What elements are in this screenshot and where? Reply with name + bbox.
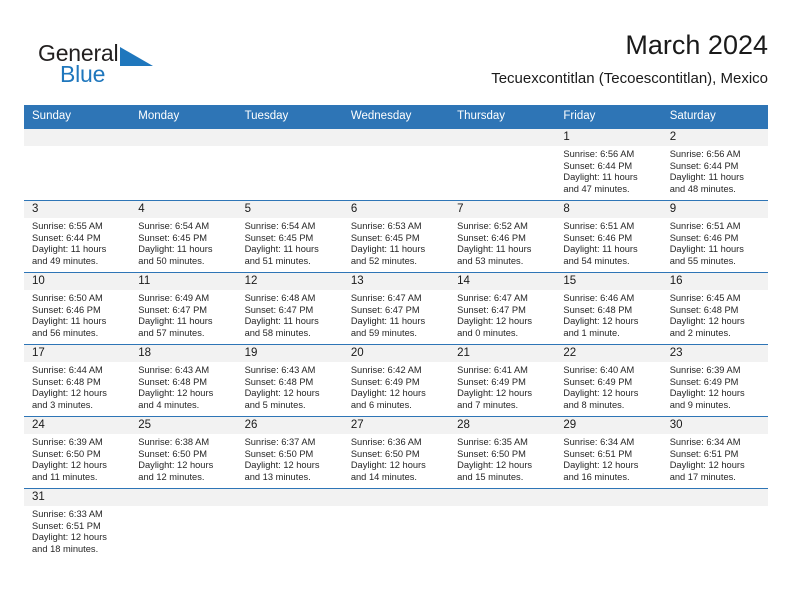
sunset-time: Sunset: 6:49 PM: [351, 377, 445, 389]
day-number: 20: [343, 345, 449, 362]
day-details: Sunrise: 6:50 AMSunset: 6:46 PMDaylight:…: [24, 290, 130, 339]
daylight-duration-line2: and 13 minutes.: [245, 472, 339, 484]
weekday-header-tuesday: Tuesday: [237, 105, 343, 129]
daylight-duration-line2: and 47 minutes.: [563, 184, 657, 196]
calendar-day-cell[interactable]: 3Sunrise: 6:55 AMSunset: 6:44 PMDaylight…: [24, 201, 130, 273]
day-number: 31: [24, 489, 130, 506]
calendar-day-cell[interactable]: 2Sunrise: 6:56 AMSunset: 6:44 PMDaylight…: [662, 129, 768, 201]
sunrise-time: Sunrise: 6:46 AM: [563, 293, 657, 305]
daylight-duration-line2: and 54 minutes.: [563, 256, 657, 268]
day-details: Sunrise: 6:53 AMSunset: 6:45 PMDaylight:…: [343, 218, 449, 267]
daylight-duration-line2: and 0 minutes.: [457, 328, 551, 340]
sunset-time: Sunset: 6:46 PM: [32, 305, 126, 317]
calendar-day-cell[interactable]: 14Sunrise: 6:47 AMSunset: 6:47 PMDayligh…: [449, 273, 555, 345]
sunrise-time: Sunrise: 6:37 AM: [245, 437, 339, 449]
day-details: Sunrise: 6:48 AMSunset: 6:47 PMDaylight:…: [237, 290, 343, 339]
sunset-time: Sunset: 6:51 PM: [32, 521, 126, 533]
daylight-duration-line2: and 7 minutes.: [457, 400, 551, 412]
day-details: Sunrise: 6:51 AMSunset: 6:46 PMDaylight:…: [662, 218, 768, 267]
day-details: Sunrise: 6:43 AMSunset: 6:48 PMDaylight:…: [130, 362, 236, 411]
daylight-duration-line1: Daylight: 12 hours: [457, 316, 551, 328]
calendar-body: 1Sunrise: 6:56 AMSunset: 6:44 PMDaylight…: [24, 129, 768, 561]
day-details: Sunrise: 6:41 AMSunset: 6:49 PMDaylight:…: [449, 362, 555, 411]
daylight-duration-line1: Daylight: 11 hours: [245, 316, 339, 328]
daylight-duration-line2: and 3 minutes.: [32, 400, 126, 412]
sunset-time: Sunset: 6:50 PM: [138, 449, 232, 461]
day-details: Sunrise: 6:51 AMSunset: 6:46 PMDaylight:…: [555, 218, 661, 267]
day-details: Sunrise: 6:39 AMSunset: 6:49 PMDaylight:…: [662, 362, 768, 411]
day-number: [237, 489, 343, 506]
sunset-time: Sunset: 6:47 PM: [351, 305, 445, 317]
calendar-day-cell[interactable]: 29Sunrise: 6:34 AMSunset: 6:51 PMDayligh…: [555, 417, 661, 489]
calendar-day-cell[interactable]: 26Sunrise: 6:37 AMSunset: 6:50 PMDayligh…: [237, 417, 343, 489]
calendar-cell-empty: [449, 489, 555, 561]
sunset-time: Sunset: 6:49 PM: [457, 377, 551, 389]
daylight-duration-line2: and 57 minutes.: [138, 328, 232, 340]
calendar-day-cell[interactable]: 28Sunrise: 6:35 AMSunset: 6:50 PMDayligh…: [449, 417, 555, 489]
sunrise-time: Sunrise: 6:51 AM: [670, 221, 764, 233]
sunset-time: Sunset: 6:45 PM: [351, 233, 445, 245]
sunrise-time: Sunrise: 6:43 AM: [245, 365, 339, 377]
day-number: 26: [237, 417, 343, 434]
sunrise-time: Sunrise: 6:43 AM: [138, 365, 232, 377]
calendar-day-cell[interactable]: 17Sunrise: 6:44 AMSunset: 6:48 PMDayligh…: [24, 345, 130, 417]
location-subtitle: Tecuexcontitlan (Tecoescontitlan), Mexic…: [491, 68, 768, 90]
day-details: Sunrise: 6:44 AMSunset: 6:48 PMDaylight:…: [24, 362, 130, 411]
daylight-duration-line2: and 2 minutes.: [670, 328, 764, 340]
sunset-time: Sunset: 6:44 PM: [670, 161, 764, 173]
day-number: 29: [555, 417, 661, 434]
daylight-duration-line1: Daylight: 11 hours: [138, 244, 232, 256]
sunrise-time: Sunrise: 6:56 AM: [670, 149, 764, 161]
daylight-duration-line1: Daylight: 12 hours: [32, 532, 126, 544]
daylight-duration-line2: and 4 minutes.: [138, 400, 232, 412]
calendar-day-cell[interactable]: 30Sunrise: 6:34 AMSunset: 6:51 PMDayligh…: [662, 417, 768, 489]
daylight-duration-line1: Daylight: 12 hours: [351, 460, 445, 472]
daylight-duration-line1: Daylight: 12 hours: [670, 388, 764, 400]
calendar-day-cell[interactable]: 20Sunrise: 6:42 AMSunset: 6:49 PMDayligh…: [343, 345, 449, 417]
day-number: [662, 489, 768, 506]
daylight-duration-line1: Daylight: 12 hours: [670, 460, 764, 472]
daylight-duration-line1: Daylight: 12 hours: [457, 388, 551, 400]
day-number: 21: [449, 345, 555, 362]
logo-text-blue: Blue: [60, 61, 105, 87]
sunset-time: Sunset: 6:46 PM: [457, 233, 551, 245]
day-number: 8: [555, 201, 661, 218]
sunset-time: Sunset: 6:44 PM: [563, 161, 657, 173]
day-details: Sunrise: 6:33 AMSunset: 6:51 PMDaylight:…: [24, 506, 130, 555]
day-number: [24, 129, 130, 146]
calendar-day-cell[interactable]: 6Sunrise: 6:53 AMSunset: 6:45 PMDaylight…: [343, 201, 449, 273]
sunrise-time: Sunrise: 6:39 AM: [670, 365, 764, 377]
day-details: Sunrise: 6:46 AMSunset: 6:48 PMDaylight:…: [555, 290, 661, 339]
daylight-duration-line2: and 49 minutes.: [32, 256, 126, 268]
sunrise-time: Sunrise: 6:34 AM: [563, 437, 657, 449]
sunrise-time: Sunrise: 6:39 AM: [32, 437, 126, 449]
calendar-day-cell[interactable]: 11Sunrise: 6:49 AMSunset: 6:47 PMDayligh…: [130, 273, 236, 345]
calendar-cell-empty: [343, 129, 449, 201]
day-details: Sunrise: 6:56 AMSunset: 6:44 PMDaylight:…: [555, 146, 661, 195]
day-details: Sunrise: 6:45 AMSunset: 6:48 PMDaylight:…: [662, 290, 768, 339]
general-blue-logo[interactable]: General Blue: [38, 40, 168, 92]
calendar-cell-empty: [130, 129, 236, 201]
daylight-duration-line1: Daylight: 12 hours: [138, 460, 232, 472]
day-number: [237, 129, 343, 146]
daylight-duration-line2: and 16 minutes.: [563, 472, 657, 484]
daylight-duration-line2: and 15 minutes.: [457, 472, 551, 484]
day-number: [449, 129, 555, 146]
calendar-week-row: 1Sunrise: 6:56 AMSunset: 6:44 PMDaylight…: [24, 129, 768, 201]
sunrise-time: Sunrise: 6:36 AM: [351, 437, 445, 449]
daylight-duration-line2: and 51 minutes.: [245, 256, 339, 268]
sunrise-time: Sunrise: 6:52 AM: [457, 221, 551, 233]
day-number: 25: [130, 417, 236, 434]
sunrise-time: Sunrise: 6:38 AM: [138, 437, 232, 449]
calendar-day-cell[interactable]: 12Sunrise: 6:48 AMSunset: 6:47 PMDayligh…: [237, 273, 343, 345]
calendar-cell-empty: [130, 489, 236, 561]
calendar-day-cell[interactable]: 27Sunrise: 6:36 AMSunset: 6:50 PMDayligh…: [343, 417, 449, 489]
daylight-duration-line2: and 5 minutes.: [245, 400, 339, 412]
day-number: 19: [237, 345, 343, 362]
page-title: March 2024: [491, 28, 768, 62]
calendar-week-row: 3Sunrise: 6:55 AMSunset: 6:44 PMDaylight…: [24, 201, 768, 273]
day-number: 6: [343, 201, 449, 218]
day-details: Sunrise: 6:47 AMSunset: 6:47 PMDaylight:…: [449, 290, 555, 339]
sunset-time: Sunset: 6:48 PM: [245, 377, 339, 389]
weekday-header-sunday: Sunday: [24, 105, 130, 129]
day-number: 13: [343, 273, 449, 290]
day-number: 27: [343, 417, 449, 434]
calendar-day-cell[interactable]: 22Sunrise: 6:40 AMSunset: 6:49 PMDayligh…: [555, 345, 661, 417]
sunset-time: Sunset: 6:51 PM: [563, 449, 657, 461]
sunset-time: Sunset: 6:51 PM: [670, 449, 764, 461]
day-number: 17: [24, 345, 130, 362]
daylight-duration-line1: Daylight: 11 hours: [563, 172, 657, 184]
daylight-duration-line2: and 18 minutes.: [32, 544, 126, 556]
sunset-time: Sunset: 6:45 PM: [138, 233, 232, 245]
calendar-week-row: 31Sunrise: 6:33 AMSunset: 6:51 PMDayligh…: [24, 489, 768, 561]
day-number: 1: [555, 129, 661, 146]
day-number: [343, 129, 449, 146]
sunrise-time: Sunrise: 6:53 AM: [351, 221, 445, 233]
daylight-duration-line1: Daylight: 11 hours: [245, 244, 339, 256]
day-number: 10: [24, 273, 130, 290]
day-details: Sunrise: 6:52 AMSunset: 6:46 PMDaylight:…: [449, 218, 555, 267]
calendar-day-cell[interactable]: 18Sunrise: 6:43 AMSunset: 6:48 PMDayligh…: [130, 345, 236, 417]
day-number: [130, 489, 236, 506]
daylight-duration-line1: Daylight: 12 hours: [138, 388, 232, 400]
sunrise-time: Sunrise: 6:45 AM: [670, 293, 764, 305]
day-details: Sunrise: 6:37 AMSunset: 6:50 PMDaylight:…: [237, 434, 343, 483]
calendar-page: General Blue March 2024 Tecuexcontitlan …: [0, 0, 792, 612]
daylight-duration-line1: Daylight: 11 hours: [351, 244, 445, 256]
daylight-duration-line2: and 59 minutes.: [351, 328, 445, 340]
daylight-duration-line2: and 1 minute.: [563, 328, 657, 340]
sunset-time: Sunset: 6:48 PM: [138, 377, 232, 389]
calendar-cell-empty: [662, 489, 768, 561]
calendar-cell-empty: [449, 129, 555, 201]
daylight-duration-line1: Daylight: 11 hours: [32, 316, 126, 328]
daylight-duration-line1: Daylight: 11 hours: [32, 244, 126, 256]
day-details: Sunrise: 6:55 AMSunset: 6:44 PMDaylight:…: [24, 218, 130, 267]
sunrise-time: Sunrise: 6:40 AM: [563, 365, 657, 377]
day-details: Sunrise: 6:34 AMSunset: 6:51 PMDaylight:…: [662, 434, 768, 483]
sunset-time: Sunset: 6:45 PM: [245, 233, 339, 245]
triangle-logo-icon: [120, 47, 153, 66]
day-details: Sunrise: 6:47 AMSunset: 6:47 PMDaylight:…: [343, 290, 449, 339]
calendar-day-cell[interactable]: 15Sunrise: 6:46 AMSunset: 6:48 PMDayligh…: [555, 273, 661, 345]
daylight-duration-line1: Daylight: 11 hours: [351, 316, 445, 328]
sunrise-time: Sunrise: 6:35 AM: [457, 437, 551, 449]
day-number: 23: [662, 345, 768, 362]
sunrise-time: Sunrise: 6:47 AM: [457, 293, 551, 305]
daylight-duration-line1: Daylight: 12 hours: [670, 316, 764, 328]
daylight-duration-line1: Daylight: 12 hours: [245, 460, 339, 472]
daylight-duration-line1: Daylight: 11 hours: [138, 316, 232, 328]
daylight-duration-line1: Daylight: 12 hours: [563, 316, 657, 328]
calendar-cell-empty: [237, 489, 343, 561]
day-details: Sunrise: 6:42 AMSunset: 6:49 PMDaylight:…: [343, 362, 449, 411]
daylight-duration-line1: Daylight: 12 hours: [32, 388, 126, 400]
sunset-time: Sunset: 6:47 PM: [245, 305, 339, 317]
weekday-header-saturday: Saturday: [662, 105, 768, 129]
sunrise-time: Sunrise: 6:44 AM: [32, 365, 126, 377]
sunset-time: Sunset: 6:48 PM: [32, 377, 126, 389]
daylight-duration-line1: Daylight: 12 hours: [563, 460, 657, 472]
calendar-week-row: 10Sunrise: 6:50 AMSunset: 6:46 PMDayligh…: [24, 273, 768, 345]
day-number: [449, 489, 555, 506]
sunrise-time: Sunrise: 6:47 AM: [351, 293, 445, 305]
sunrise-time: Sunrise: 6:41 AM: [457, 365, 551, 377]
day-details: Sunrise: 6:54 AMSunset: 6:45 PMDaylight:…: [237, 218, 343, 267]
day-number: [555, 489, 661, 506]
day-details: Sunrise: 6:49 AMSunset: 6:47 PMDaylight:…: [130, 290, 236, 339]
day-number: 16: [662, 273, 768, 290]
daylight-duration-line1: Daylight: 12 hours: [32, 460, 126, 472]
day-number: [130, 129, 236, 146]
sunrise-time: Sunrise: 6:56 AM: [563, 149, 657, 161]
daylight-duration-line1: Daylight: 12 hours: [563, 388, 657, 400]
sunset-time: Sunset: 6:46 PM: [563, 233, 657, 245]
calendar-day-cell[interactable]: 10Sunrise: 6:50 AMSunset: 6:46 PMDayligh…: [24, 273, 130, 345]
sunrise-time: Sunrise: 6:49 AM: [138, 293, 232, 305]
day-number: 15: [555, 273, 661, 290]
day-details: Sunrise: 6:38 AMSunset: 6:50 PMDaylight:…: [130, 434, 236, 483]
calendar-day-cell[interactable]: 4Sunrise: 6:54 AMSunset: 6:45 PMDaylight…: [130, 201, 236, 273]
daylight-duration-line2: and 58 minutes.: [245, 328, 339, 340]
sunrise-time: Sunrise: 6:34 AM: [670, 437, 764, 449]
day-details: Sunrise: 6:34 AMSunset: 6:51 PMDaylight:…: [555, 434, 661, 483]
calendar-day-cell[interactable]: 13Sunrise: 6:47 AMSunset: 6:47 PMDayligh…: [343, 273, 449, 345]
day-details: Sunrise: 6:36 AMSunset: 6:50 PMDaylight:…: [343, 434, 449, 483]
weekday-header-friday: Friday: [555, 105, 661, 129]
sunrise-sunset-calendar: Sunday Monday Tuesday Wednesday Thursday…: [24, 105, 768, 561]
calendar-week-row: 17Sunrise: 6:44 AMSunset: 6:48 PMDayligh…: [24, 345, 768, 417]
sunrise-time: Sunrise: 6:33 AM: [32, 509, 126, 521]
daylight-duration-line1: Daylight: 11 hours: [457, 244, 551, 256]
daylight-duration-line2: and 9 minutes.: [670, 400, 764, 412]
daylight-duration-line2: and 55 minutes.: [670, 256, 764, 268]
daylight-duration-line1: Daylight: 11 hours: [563, 244, 657, 256]
sunset-time: Sunset: 6:47 PM: [138, 305, 232, 317]
calendar-day-cell[interactable]: 23Sunrise: 6:39 AMSunset: 6:49 PMDayligh…: [662, 345, 768, 417]
day-number: 24: [24, 417, 130, 434]
daylight-duration-line1: Daylight: 11 hours: [670, 244, 764, 256]
page-header: General Blue March 2024 Tecuexcontitlan …: [24, 28, 768, 100]
sunset-time: Sunset: 6:48 PM: [563, 305, 657, 317]
weekday-header-thursday: Thursday: [449, 105, 555, 129]
daylight-duration-line1: Daylight: 12 hours: [351, 388, 445, 400]
calendar-day-cell[interactable]: 16Sunrise: 6:45 AMSunset: 6:48 PMDayligh…: [662, 273, 768, 345]
calendar-week-row: 24Sunrise: 6:39 AMSunset: 6:50 PMDayligh…: [24, 417, 768, 489]
day-number: [343, 489, 449, 506]
day-details: Sunrise: 6:54 AMSunset: 6:45 PMDaylight:…: [130, 218, 236, 267]
calendar-cell-empty: [237, 129, 343, 201]
daylight-duration-line1: Daylight: 12 hours: [457, 460, 551, 472]
day-number: 9: [662, 201, 768, 218]
sunset-time: Sunset: 6:50 PM: [245, 449, 339, 461]
sunset-time: Sunset: 6:50 PM: [32, 449, 126, 461]
daylight-duration-line2: and 50 minutes.: [138, 256, 232, 268]
sunrise-time: Sunrise: 6:54 AM: [138, 221, 232, 233]
sunrise-time: Sunrise: 6:50 AM: [32, 293, 126, 305]
sunrise-time: Sunrise: 6:48 AM: [245, 293, 339, 305]
sunrise-time: Sunrise: 6:42 AM: [351, 365, 445, 377]
daylight-duration-line2: and 53 minutes.: [457, 256, 551, 268]
sunset-time: Sunset: 6:50 PM: [457, 449, 551, 461]
daylight-duration-line2: and 14 minutes.: [351, 472, 445, 484]
day-number: 7: [449, 201, 555, 218]
calendar-day-cell[interactable]: 5Sunrise: 6:54 AMSunset: 6:45 PMDaylight…: [237, 201, 343, 273]
sunset-time: Sunset: 6:48 PM: [670, 305, 764, 317]
sunrise-time: Sunrise: 6:51 AM: [563, 221, 657, 233]
day-number: 4: [130, 201, 236, 218]
sunset-time: Sunset: 6:44 PM: [32, 233, 126, 245]
calendar-day-cell[interactable]: 31Sunrise: 6:33 AMSunset: 6:51 PMDayligh…: [24, 489, 130, 561]
day-number: 11: [130, 273, 236, 290]
daylight-duration-line2: and 8 minutes.: [563, 400, 657, 412]
daylight-duration-line2: and 56 minutes.: [32, 328, 126, 340]
day-number: 28: [449, 417, 555, 434]
day-details: Sunrise: 6:35 AMSunset: 6:50 PMDaylight:…: [449, 434, 555, 483]
day-number: 18: [130, 345, 236, 362]
daylight-duration-line2: and 11 minutes.: [32, 472, 126, 484]
calendar-day-cell[interactable]: 1Sunrise: 6:56 AMSunset: 6:44 PMDaylight…: [555, 129, 661, 201]
calendar-cell-empty: [24, 129, 130, 201]
day-number: 14: [449, 273, 555, 290]
weekday-header-monday: Monday: [130, 105, 236, 129]
day-details: Sunrise: 6:40 AMSunset: 6:49 PMDaylight:…: [555, 362, 661, 411]
sunrise-time: Sunrise: 6:55 AM: [32, 221, 126, 233]
day-details: Sunrise: 6:43 AMSunset: 6:48 PMDaylight:…: [237, 362, 343, 411]
calendar-day-cell[interactable]: 8Sunrise: 6:51 AMSunset: 6:46 PMDaylight…: [555, 201, 661, 273]
daylight-duration-line1: Daylight: 12 hours: [245, 388, 339, 400]
day-number: 12: [237, 273, 343, 290]
calendar-day-cell[interactable]: 21Sunrise: 6:41 AMSunset: 6:49 PMDayligh…: [449, 345, 555, 417]
daylight-duration-line1: Daylight: 11 hours: [670, 172, 764, 184]
daylight-duration-line2: and 52 minutes.: [351, 256, 445, 268]
daylight-duration-line2: and 17 minutes.: [670, 472, 764, 484]
day-number: 2: [662, 129, 768, 146]
calendar-day-cell[interactable]: 25Sunrise: 6:38 AMSunset: 6:50 PMDayligh…: [130, 417, 236, 489]
sunset-time: Sunset: 6:49 PM: [563, 377, 657, 389]
weekday-header-wednesday: Wednesday: [343, 105, 449, 129]
day-number: 22: [555, 345, 661, 362]
calendar-day-cell[interactable]: 24Sunrise: 6:39 AMSunset: 6:50 PMDayligh…: [24, 417, 130, 489]
day-details: Sunrise: 6:39 AMSunset: 6:50 PMDaylight:…: [24, 434, 130, 483]
day-number: 3: [24, 201, 130, 218]
sunset-time: Sunset: 6:50 PM: [351, 449, 445, 461]
day-details: Sunrise: 6:56 AMSunset: 6:44 PMDaylight:…: [662, 146, 768, 195]
sunset-time: Sunset: 6:49 PM: [670, 377, 764, 389]
calendar-cell-empty: [555, 489, 661, 561]
calendar-day-cell[interactable]: 7Sunrise: 6:52 AMSunset: 6:46 PMDaylight…: [449, 201, 555, 273]
weekday-header-row: Sunday Monday Tuesday Wednesday Thursday…: [24, 105, 768, 129]
daylight-duration-line2: and 6 minutes.: [351, 400, 445, 412]
sunrise-time: Sunrise: 6:54 AM: [245, 221, 339, 233]
calendar-day-cell[interactable]: 9Sunrise: 6:51 AMSunset: 6:46 PMDaylight…: [662, 201, 768, 273]
day-number: 30: [662, 417, 768, 434]
sunset-time: Sunset: 6:47 PM: [457, 305, 551, 317]
daylight-duration-line2: and 48 minutes.: [670, 184, 764, 196]
title-block: March 2024 Tecuexcontitlan (Tecoescontit…: [491, 28, 768, 90]
daylight-duration-line2: and 12 minutes.: [138, 472, 232, 484]
day-number: 5: [237, 201, 343, 218]
calendar-cell-empty: [343, 489, 449, 561]
sunset-time: Sunset: 6:46 PM: [670, 233, 764, 245]
calendar-day-cell[interactable]: 19Sunrise: 6:43 AMSunset: 6:48 PMDayligh…: [237, 345, 343, 417]
